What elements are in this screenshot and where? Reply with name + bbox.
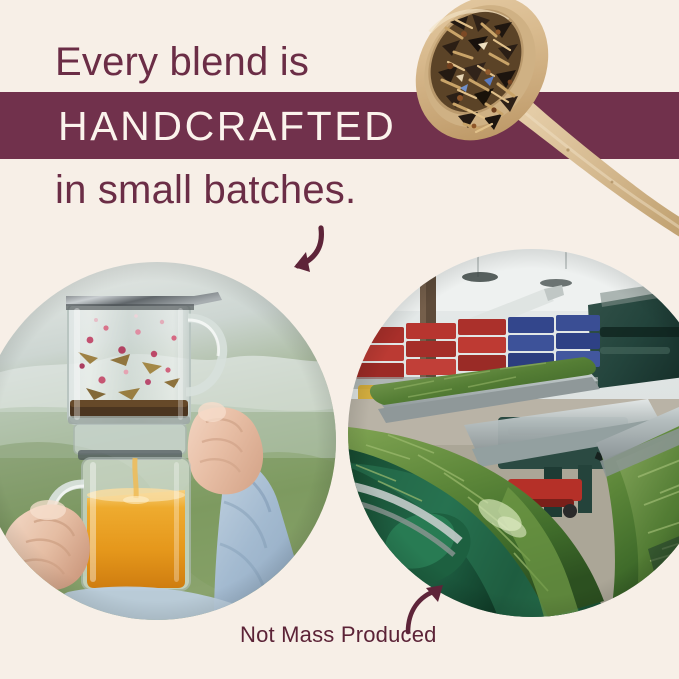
curved-arrow-down-left-icon (272, 222, 332, 280)
headline-line-1: Every blend is (55, 40, 309, 84)
headline-line-3: in small batches. (55, 168, 356, 212)
headline-banner-text: HANDCRAFTED (58, 103, 396, 149)
promotional-graphic: Every blend is HANDCRAFTED in small batc… (0, 0, 679, 679)
right-photo-circle (348, 249, 679, 617)
left-photo-circle (0, 262, 336, 620)
tea-factory-conveyor-photo (348, 249, 679, 617)
hands-holding-glass-tea-infuser-photo (0, 262, 336, 620)
caption-not-mass-produced: Not Mass Produced (240, 622, 437, 648)
